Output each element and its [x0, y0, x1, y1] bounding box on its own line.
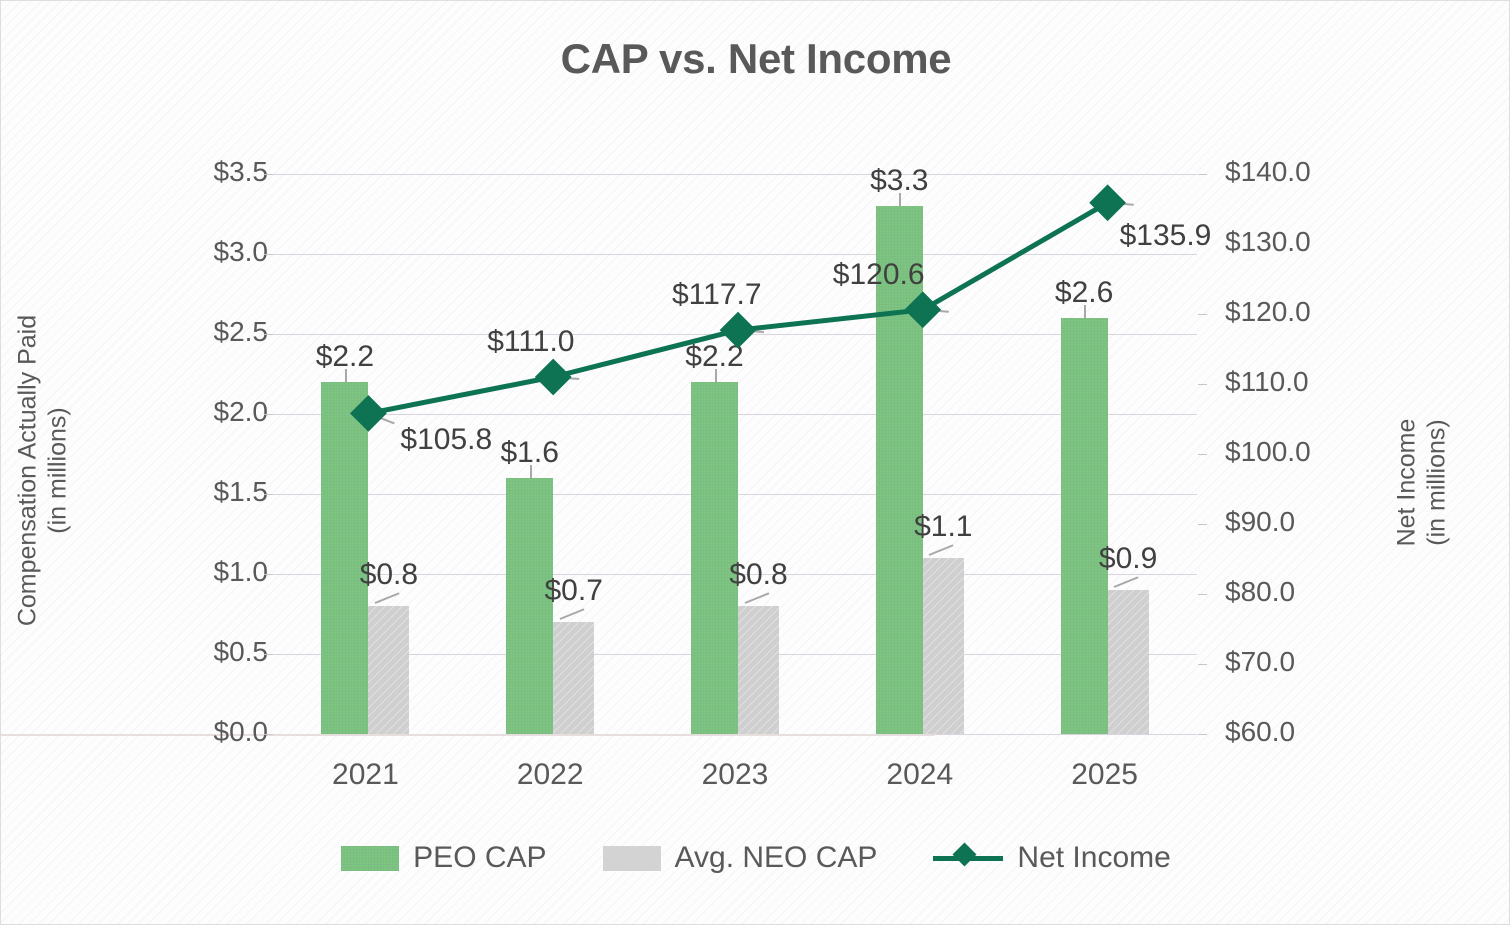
right-axis-tick-label: $80.0: [1225, 576, 1295, 608]
line-diamond-marker: [933, 845, 1003, 871]
bar-avg-neo-cap[interactable]: [1108, 590, 1149, 734]
left-axis-tick-label: $3.0: [214, 236, 269, 268]
left-axis-tick-mark: [264, 654, 273, 655]
right-axis-title-line1: Net Income: [1393, 419, 1421, 547]
right-axis-tick-label: $140.0: [1225, 156, 1311, 188]
data-label-avg-neo-cap: $0.7: [504, 574, 644, 608]
data-label-peo-cap: $2.6: [1014, 276, 1154, 310]
bar-leader-tick: [375, 592, 400, 604]
category-label-2024: 2024: [840, 758, 1000, 792]
data-label-peo-cap: $2.2: [275, 340, 415, 374]
right-axis-tick-label: $70.0: [1225, 646, 1295, 678]
left-axis-tick-mark: [264, 494, 273, 495]
legend-diamond-icon: [953, 842, 977, 866]
left-axis-tick-label: $2.5: [214, 316, 269, 348]
data-label-avg-neo-cap: $0.8: [319, 558, 459, 592]
left-axis-tick-mark: [264, 574, 273, 575]
chart-title: CAP vs. Net Income: [1, 35, 1510, 83]
left-axis-tick-mark: [264, 174, 273, 175]
left-axis-tick-label: $0.0: [214, 716, 269, 748]
right-axis-tick-mark: [1198, 594, 1207, 595]
legend-item-net-income[interactable]: Net Income: [933, 841, 1170, 875]
bar-avg-neo-cap[interactable]: [738, 606, 779, 734]
right-axis-tick-mark: [1198, 384, 1207, 385]
right-axis-tick-label: $130.0: [1225, 226, 1311, 258]
left-axis-tick-mark: [264, 734, 273, 735]
data-label-peo-cap: $3.3: [829, 164, 969, 198]
data-label-avg-neo-cap: $0.9: [1058, 542, 1198, 576]
data-label-avg-neo-cap: $0.8: [689, 558, 829, 592]
bar-peo-cap[interactable]: [1061, 318, 1108, 734]
bar-avg-neo-cap[interactable]: [553, 622, 594, 734]
bar-leader-tick: [559, 608, 584, 620]
right-axis-tick-label: $90.0: [1225, 506, 1295, 538]
chart-container: CAP vs. Net Income Compensation Actually…: [0, 0, 1510, 925]
category-label-2022: 2022: [470, 758, 630, 792]
legend-label: Net Income: [1017, 841, 1170, 875]
left-axis-tick-mark: [264, 414, 273, 415]
bar-avg-neo-cap[interactable]: [923, 558, 964, 734]
right-axis-tick-label: $120.0: [1225, 296, 1311, 328]
data-label-peo-cap: $2.2: [645, 340, 785, 374]
left-axis-title: Compensation Actually Paid (in millions): [14, 261, 73, 681]
right-axis-tick-mark: [1198, 734, 1207, 735]
data-label-net-income: $111.0: [487, 325, 574, 359]
legend-item-peo-cap[interactable]: PEO CAP: [341, 841, 546, 875]
bar-leader-tick: [1114, 576, 1139, 588]
data-label-net-income: $135.9: [1120, 219, 1212, 253]
left-axis-tick-label: $1.5: [214, 476, 269, 508]
right-axis-tick-mark: [1198, 174, 1207, 175]
left-axis-tick-mark: [264, 334, 273, 335]
data-label-net-income: $120.6: [833, 258, 925, 292]
left-axis-tick-mark: [264, 254, 273, 255]
right-axis-tick-label: $110.0: [1225, 366, 1309, 398]
right-axis-title-line2: (in millions): [1422, 273, 1452, 693]
right-axis-tick-mark: [1198, 524, 1207, 525]
bar-swatch-gray: [603, 846, 661, 871]
left-axis-tick-label: $3.5: [214, 156, 269, 188]
data-label-avg-neo-cap: $1.1: [873, 510, 1013, 544]
right-axis-tick-label: $100.0: [1225, 436, 1311, 468]
right-axis-tick-mark: [1198, 314, 1207, 315]
legend-label: Avg. NEO CAP: [675, 841, 878, 875]
bar-leader-tick: [744, 592, 769, 604]
bar-swatch-green: [341, 846, 399, 871]
right-axis-tick-mark: [1198, 454, 1207, 455]
left-axis-tick-label: $2.0: [214, 396, 269, 428]
category-label-2025: 2025: [1025, 758, 1185, 792]
bar-avg-neo-cap[interactable]: [368, 606, 409, 734]
left-axis-tick-label: $0.5: [214, 636, 269, 668]
left-axis-title-line2: (in millions): [43, 261, 73, 681]
chart-legend: PEO CAPAvg. NEO CAPNet Income: [1, 841, 1510, 875]
category-label-2023: 2023: [655, 758, 815, 792]
data-label-net-income: $105.8: [400, 423, 492, 457]
category-label-2021: 2021: [285, 758, 445, 792]
axis-baseline: [0, 734, 935, 736]
bar-leader-tick: [929, 544, 954, 556]
right-axis-title: Net Income (in millions): [1393, 273, 1452, 693]
left-axis-title-line1: Compensation Actually Paid: [14, 315, 42, 626]
right-axis-tick-label: $60.0: [1225, 716, 1295, 748]
legend-item-avg-neo-cap[interactable]: Avg. NEO CAP: [603, 841, 878, 875]
right-axis-tick-mark: [1198, 664, 1207, 665]
legend-label: PEO CAP: [413, 841, 546, 875]
left-axis-tick-label: $1.0: [214, 556, 269, 588]
data-label-net-income: $117.7: [672, 278, 762, 312]
